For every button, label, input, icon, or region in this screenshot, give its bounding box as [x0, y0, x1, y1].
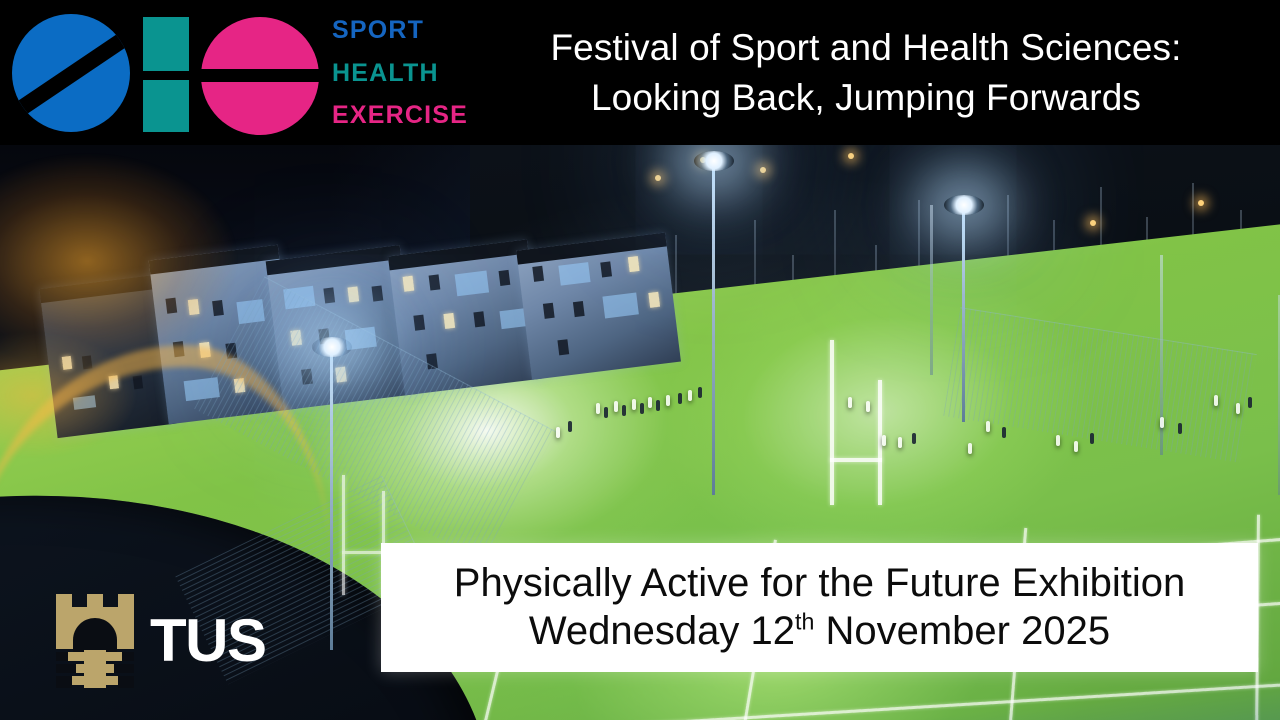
tus-wordmark: TUS [150, 611, 266, 671]
logo-e-mark-bar-icon [195, 69, 327, 82]
event-date: Wednesday 12th November 2025 [529, 608, 1110, 655]
logo-i-mark-bottom-icon [143, 80, 189, 132]
logo-word-exercise: EXERCISE [332, 95, 468, 136]
event-date-prefix: Wednesday 12 [529, 609, 795, 653]
logo-word-sport: SPORT [332, 10, 468, 51]
event-title-line-2: Looking Back, Jumping Forwards [470, 73, 1262, 122]
exhibition-title: Physically Active for the Future Exhibit… [454, 560, 1185, 607]
event-poster: SPORT HEALTH EXERCISE Festival of Sport … [0, 0, 1280, 720]
logo-word-health: HEALTH [332, 53, 468, 94]
tus-castle-icon [56, 594, 134, 688]
she-logo: SPORT HEALTH EXERCISE [0, 0, 470, 145]
poster-header: SPORT HEALTH EXERCISE Festival of Sport … [0, 0, 1280, 145]
event-date-ordinal: th [795, 608, 814, 634]
event-date-suffix: November 2025 [814, 609, 1110, 653]
logo-wordmark: SPORT HEALTH EXERCISE [332, 8, 468, 138]
tus-logo: TUS [56, 594, 266, 688]
event-title-line-1: Festival of Sport and Health Sciences: [470, 23, 1262, 72]
logo-s-mark-icon [12, 14, 130, 132]
logo-i-mark-top-icon [143, 17, 189, 71]
event-details-banner: Physically Active for the Future Exhibit… [381, 543, 1258, 672]
rugby-goalpost [828, 340, 888, 505]
event-title: Festival of Sport and Health Sciences: L… [470, 23, 1280, 121]
